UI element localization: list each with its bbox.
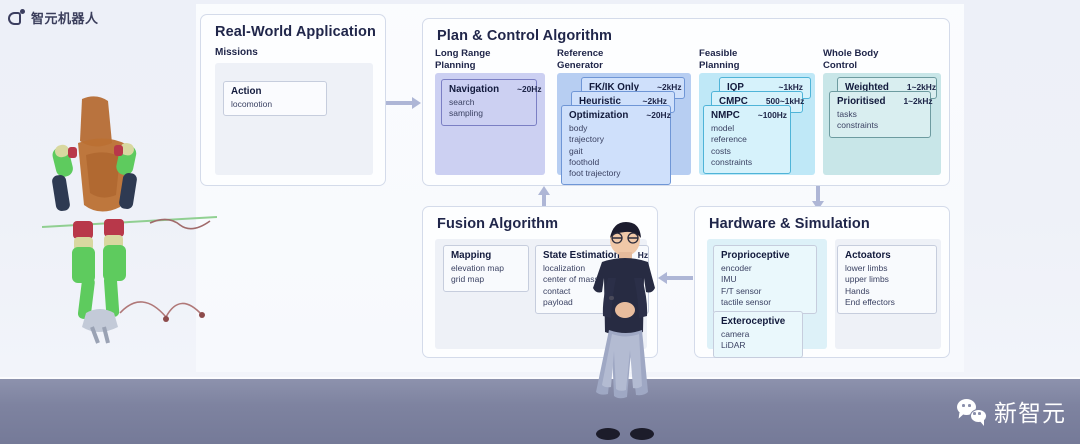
robot-visualization [42,95,217,345]
card-proprioceptive[interactable]: Proprioceptive encoder IMU F/T sensor ta… [713,245,817,314]
card-optimization-freq: ~20Hz [636,110,670,120]
circle-dot-logo-icon [8,9,25,26]
card-exteroceptive-title: Exteroceptive [721,316,785,327]
group-plan-control-algorithm: Plan & Control Algorithm Long Range Plan… [422,18,950,186]
card-prioritised[interactable]: Prioritised 1~2kHz tasks constraints [829,91,931,138]
card-prioritised-freq: 1~2kHz [893,96,932,106]
card-nmpc-items: model reference costs constraints [711,123,783,168]
group-hardware-simulation: Hardware & Simulation Proprioceptive enc… [694,206,950,358]
card-action-items: locomotion [231,99,319,110]
col-whole-body-control-label: Whole Body Control [823,48,878,71]
card-prioritised-title: Prioritised [837,96,885,107]
card-actoators-items: lower limbs upper limbs Hands End effect… [845,263,929,308]
real-world-title: Real-World Application [215,24,376,40]
card-mapping[interactable]: Mapping elevation map grid map [443,245,529,292]
card-mapping-title: Mapping [451,250,491,261]
group-real-world-application: Real-World Application Missions Action l… [200,14,386,186]
col-feasible-planning-label: Feasible Planning [699,48,740,71]
card-prioritised-items: tasks constraints [837,109,923,132]
brand-logo: 智元机器人 [8,8,99,27]
card-action-title: Action [231,86,261,97]
fusion-title: Fusion Algorithm [437,216,558,232]
card-actoators-title: Actoators [845,250,891,261]
stage-floor [0,379,1080,444]
card-navigation-title: Navigation [449,84,499,95]
real-world-panel [215,63,373,175]
arrow-realworld-to-plan [386,97,422,109]
col-long-range-label: Long Range Planning [435,48,490,71]
card-exteroceptive[interactable]: Exteroceptive camera LiDAR [713,311,803,358]
wechat-icon [957,399,987,423]
channel-watermark: 新智元 [957,394,1066,428]
card-actoators[interactable]: Actoators lower limbs upper limbs Hands … [837,245,937,314]
speaker-person [578,222,673,444]
card-nmpc-freq: ~100Hz [748,110,787,120]
presentation-screenshot: 智元机器人 [0,0,1080,444]
card-navigation-freq: ~20Hz [507,84,541,94]
card-navigation[interactable]: Navigation ~20Hz search sampling [441,79,537,126]
card-optimization[interactable]: Optimization ~20Hz body trajectory gait … [561,105,671,185]
card-optimization-title: Optimization [569,110,628,121]
card-optimization-items: body trajectory gait foothold foot traje… [569,123,663,179]
card-action[interactable]: Action locomotion [223,81,327,116]
card-navigation-items: search sampling [449,97,529,120]
col-reference-generator-label: Reference Generator [557,48,603,71]
card-nmpc-title: NMPC [711,110,740,121]
card-nmpc[interactable]: NMPC ~100Hz model reference costs constr… [703,105,791,174]
plan-control-title: Plan & Control Algorithm [437,28,612,44]
card-mapping-items: elevation map grid map [451,263,521,286]
card-exteroceptive-items: camera LiDAR [721,329,795,352]
brand-name: 智元机器人 [31,8,99,27]
hardware-title: Hardware & Simulation [709,216,870,232]
watermark-text: 新智元 [994,394,1066,428]
card-proprioceptive-title: Proprioceptive [721,250,790,261]
card-proprioceptive-items: encoder IMU F/T sensor tactile sensor [721,263,809,308]
real-world-subtitle: Missions [215,47,258,59]
